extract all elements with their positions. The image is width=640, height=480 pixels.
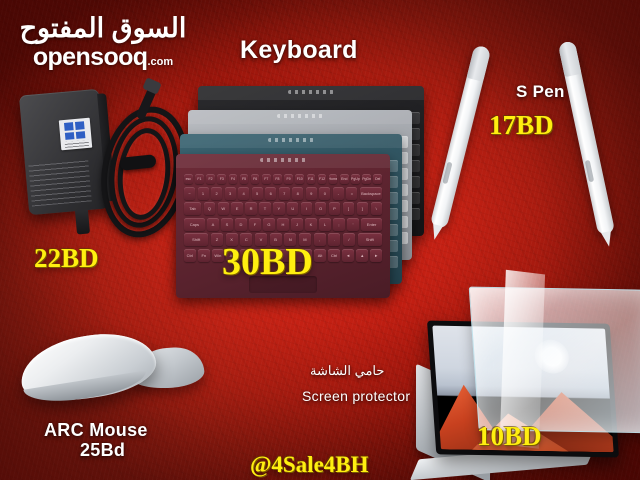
keyboard-key: \: [371, 202, 382, 215]
keyboard-key: =: [346, 187, 357, 200]
sticker-text-lines: [65, 140, 89, 148]
keyboard-key: F10: [295, 174, 304, 184]
tablet-product: [414, 294, 640, 480]
keyboard-key: ◄: [342, 249, 354, 262]
keyboard-key: ►: [370, 249, 382, 262]
keyboard-row-function: escF1F2F3F4F5F6F7F8F9F10F11F12HomeEndPgU…: [184, 174, 382, 184]
keyboard-key: G: [263, 218, 275, 231]
keyboard-connector-pins: [288, 90, 334, 94]
windows-logo-sticker: [59, 118, 92, 151]
arc-mouse-price: 25Bd: [80, 440, 125, 461]
keyboard-key: /: [343, 233, 355, 246]
power-adapter-product: [24, 86, 190, 246]
keyboard-key: F4: [229, 174, 238, 184]
keyboard-key: 9: [306, 187, 317, 200]
keyboard-key: PgDn: [362, 174, 371, 184]
s-pen-right: [558, 40, 615, 235]
logo-tld: .com: [147, 56, 173, 68]
keyboard-key: .: [328, 233, 340, 246]
keyboard-key: E: [231, 202, 242, 215]
keyboard-key: I: [301, 202, 312, 215]
keyboard-key: H: [277, 218, 289, 231]
keyboard-key: ': [347, 218, 359, 231]
arc-mouse-label: ARC Mouse: [44, 420, 148, 441]
keyboard-key: Shift: [184, 233, 208, 246]
keyboard-row-numbers: ~1234567890-=Backspace: [184, 187, 382, 200]
keyboard-key: W: [218, 202, 229, 215]
keyboard-key: Enter: [361, 218, 382, 231]
keyboard-key: [: [343, 202, 354, 215]
keyboard-key: Tab: [184, 202, 201, 215]
keyboard-key: U: [287, 202, 298, 215]
keyboard-connector-pins: [277, 114, 323, 118]
keyboard-label: Keyboard: [240, 36, 358, 65]
screen-protector-label-arabic: حامي الشاشة: [310, 363, 384, 379]
keyboard-key: F11: [307, 174, 316, 184]
opensooq-logo: السوق المفتوح opensooq.com: [14, 14, 192, 72]
keyboard-key: Del: [373, 174, 382, 184]
keyboard-key: Ctrl: [328, 249, 340, 262]
promo-image: السوق المفتوح opensooq.com: [0, 0, 640, 480]
keyboard-row-home: CapsASDFGHJKL;'Enter: [184, 218, 382, 231]
keyboard-key: ~: [184, 187, 195, 200]
logo-latin-word: opensooq: [33, 43, 148, 71]
keyboard-key: 2: [211, 187, 222, 200]
keyboard-key: L: [319, 218, 331, 231]
glass-screen-protector: [469, 287, 640, 434]
keyboard-key: ▲: [356, 249, 368, 262]
arc-mouse-product: [14, 322, 200, 422]
keyboard-key: A: [207, 218, 219, 231]
s-pen-price: 17BD: [489, 110, 554, 141]
seller-handle: @4Sale4BH: [250, 452, 369, 478]
keyboard-key: 0: [319, 187, 330, 200]
keyboard-key: 7: [279, 187, 290, 200]
pen-eraser-cap: [558, 40, 582, 77]
adapter-certification-print: [28, 157, 92, 206]
keyboard-key: F12: [318, 174, 327, 184]
keyboard-key: F3: [217, 174, 226, 184]
keyboard-key: Alt: [314, 249, 326, 262]
keyboard-key: R: [245, 202, 256, 215]
keyboard-key: 1: [198, 187, 209, 200]
keyboard-row-top: TabQWERTYUIOP[]\: [184, 202, 382, 215]
keyboard-price: 30BD: [222, 240, 313, 284]
keyboard-key: Backspace: [360, 187, 382, 200]
keyboard-key: F7: [262, 174, 271, 184]
keyboard-key: T: [259, 202, 270, 215]
keyboard-key: Home: [329, 174, 338, 184]
keyboard-key: D: [235, 218, 247, 231]
keyboard-key: -: [333, 187, 344, 200]
keyboard-key: Shift: [358, 233, 382, 246]
logo-arabic-text: السوق المفتوح: [14, 14, 192, 42]
keyboard-key: F1: [195, 174, 204, 184]
keyboard-key: ]: [357, 202, 368, 215]
keyboard-key: F2: [206, 174, 215, 184]
s-pen-left: [430, 45, 491, 230]
keyboard-key: 5: [252, 187, 263, 200]
keyboard-connector-pins: [268, 138, 314, 142]
power-adapter-price: 22BD: [34, 243, 99, 274]
keyboard-key: P: [329, 202, 340, 215]
keyboard-key: Fn: [198, 249, 210, 262]
pen-nib: [601, 231, 614, 248]
keyboard-key: K: [305, 218, 317, 231]
keyboard-key: F6: [251, 174, 260, 184]
keyboard-key: 4: [238, 187, 249, 200]
keyboard-key: Ctrl: [184, 249, 196, 262]
keyboard-key: Q: [204, 202, 215, 215]
keyboard-key: ,: [314, 233, 326, 246]
keyboard-key: End: [340, 174, 349, 184]
keyboard-key: S: [221, 218, 233, 231]
windows-icon: [64, 121, 85, 140]
keyboard-key: esc: [184, 174, 193, 184]
keyboard-key: ;: [333, 218, 345, 231]
keyboard-key: O: [315, 202, 326, 215]
screen-protector-price: 10BD: [477, 421, 542, 452]
keyboard-connector-pins: [260, 158, 306, 162]
adapter-plug: [75, 209, 90, 234]
keyboard-key: F9: [284, 174, 293, 184]
pen-nib: [430, 224, 443, 241]
keyboard-key: J: [291, 218, 303, 231]
keyboard-key: 3: [225, 187, 236, 200]
keyboard-key: 6: [265, 187, 276, 200]
keyboard-key: F: [249, 218, 261, 231]
keyboard-key: PgUp: [351, 174, 360, 184]
keyboard-key: F8: [273, 174, 282, 184]
pen-eraser-cap: [467, 45, 492, 82]
screen-protector-label-english: Screen protector: [302, 388, 410, 404]
keyboard-key: Caps: [184, 218, 205, 231]
keyboard-key: Y: [273, 202, 284, 215]
logo-latin-text: opensooq.com: [14, 43, 192, 72]
s-pen-label: S Pen: [516, 82, 565, 102]
keyboard-key: 8: [292, 187, 303, 200]
keyboard-key: F5: [240, 174, 249, 184]
